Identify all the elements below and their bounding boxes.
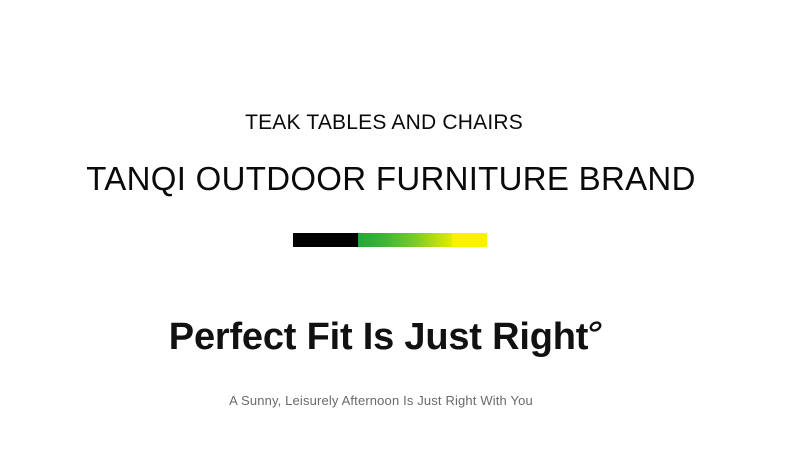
brand-headline: TANQI OUTDOOR FURNITURE BRAND — [0, 158, 782, 200]
accent-segment-gradient — [358, 233, 452, 247]
accent-segment-black — [293, 233, 358, 247]
degree-ring-icon — [589, 320, 602, 333]
gradient-accent-bar — [293, 233, 487, 247]
slogan: Perfect Fit Is Just Right — [0, 312, 770, 362]
promo-banner: TEAK TABLES AND CHAIRS TANQI OUTDOOR FUR… — [0, 0, 790, 474]
accent-segment-yellow — [452, 233, 487, 247]
eyebrow-text: TEAK TABLES AND CHAIRS — [0, 109, 768, 137]
sub-slogan: A Sunny, Leisurely Afternoon Is Just Rig… — [0, 392, 762, 410]
slogan-text: Perfect Fit Is Just Right — [169, 316, 588, 358]
